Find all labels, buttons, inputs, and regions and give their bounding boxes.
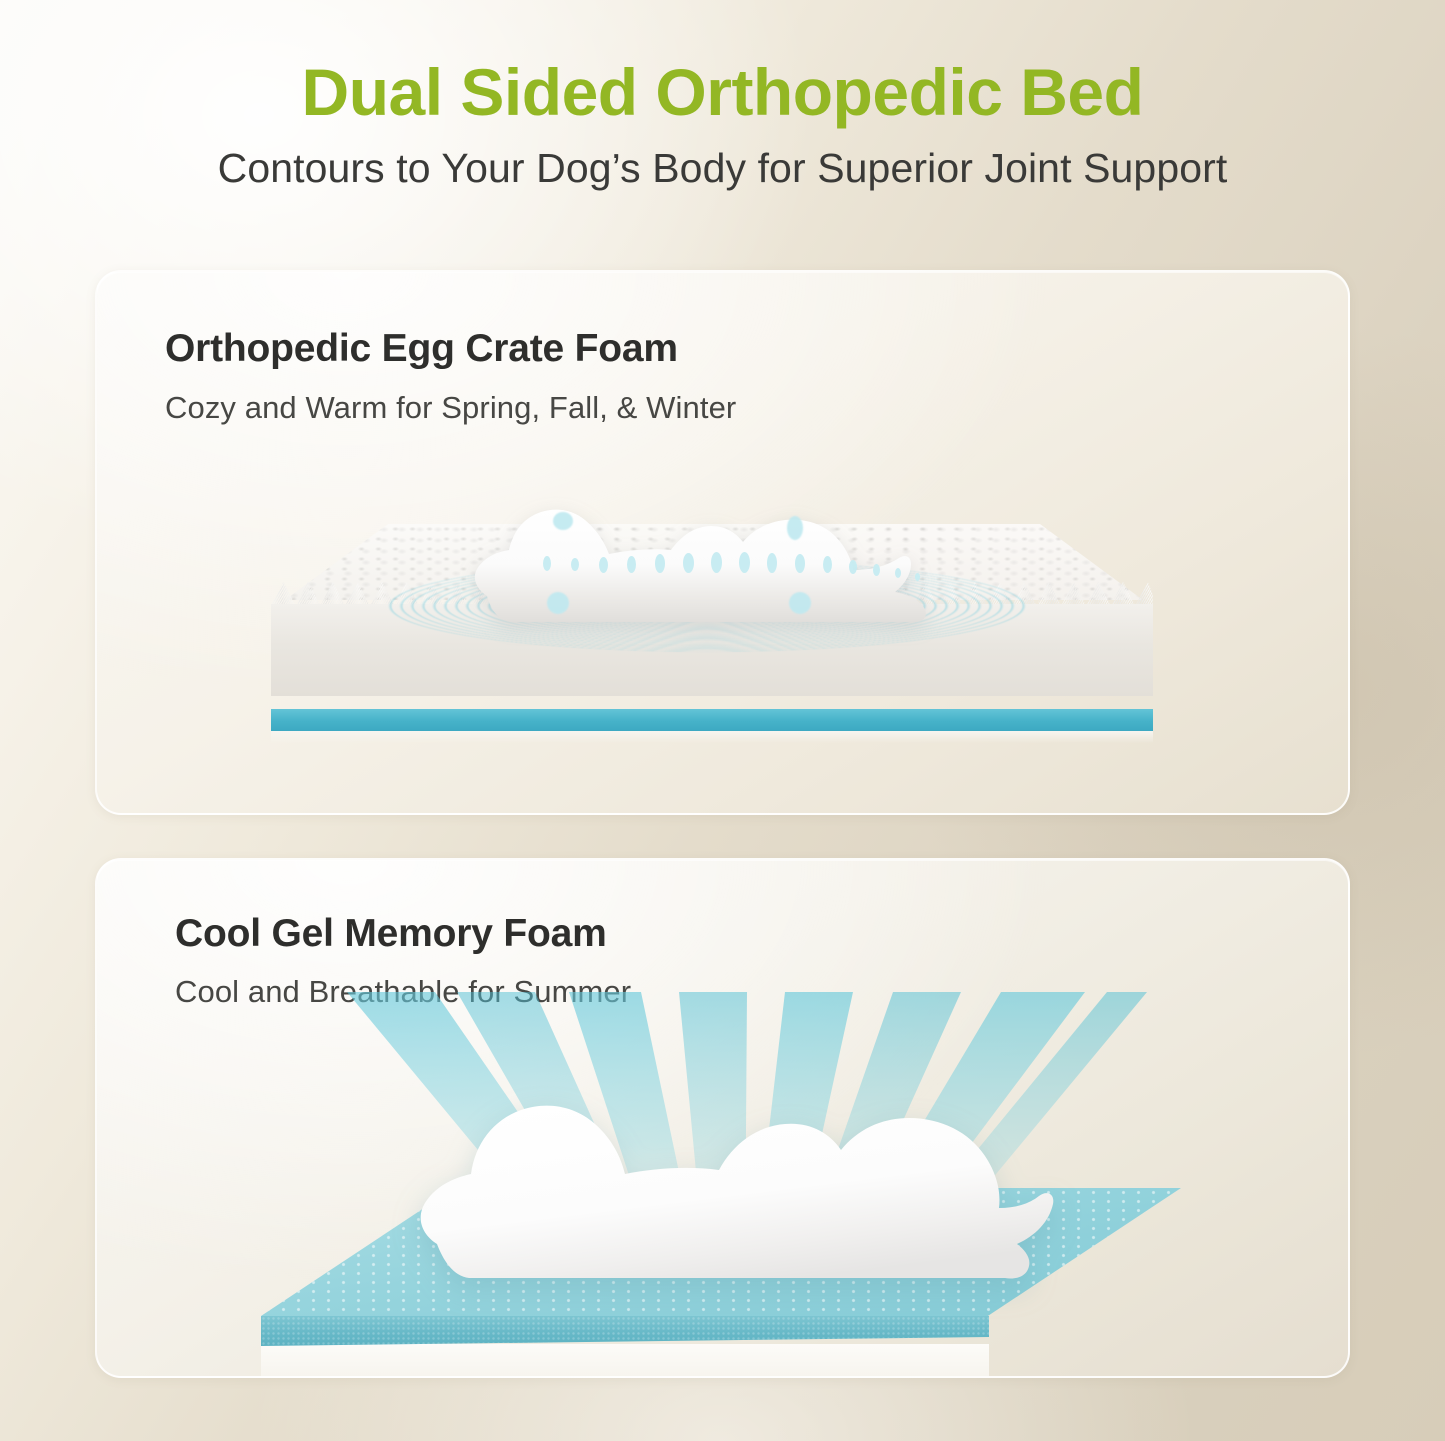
header: Dual Sided Orthopedic Bed Contours to Yo… — [0, 58, 1445, 192]
egg-crate-foam-illustration — [257, 472, 1167, 772]
card-heading: Orthopedic Egg Crate Foam — [165, 327, 678, 371]
card-subheading: Cozy and Warm for Spring, Fall, & Winter — [165, 390, 736, 426]
white-foam-base — [261, 1344, 989, 1378]
foam-base-sliver — [271, 731, 1153, 743]
dog-silhouette-icon — [453, 474, 1023, 634]
page-title: Dual Sided Orthopedic Bed — [0, 58, 1445, 127]
feature-card-cool-gel-memory-foam: Cool Gel Memory Foam Cool and Breathable… — [95, 858, 1350, 1378]
gel-memory-foam-illustration — [247, 1000, 1207, 1378]
card-heading: Cool Gel Memory Foam — [175, 912, 607, 956]
feature-card-egg-crate-foam: Orthopedic Egg Crate Foam Cozy and Warm … — [95, 270, 1350, 815]
gel-foam-edge-texture — [261, 1316, 989, 1346]
teal-base-strip — [271, 709, 1153, 731]
dog-silhouette-icon — [397, 1068, 1057, 1298]
page-subtitle: Contours to Your Dog’s Body for Superior… — [0, 145, 1445, 192]
